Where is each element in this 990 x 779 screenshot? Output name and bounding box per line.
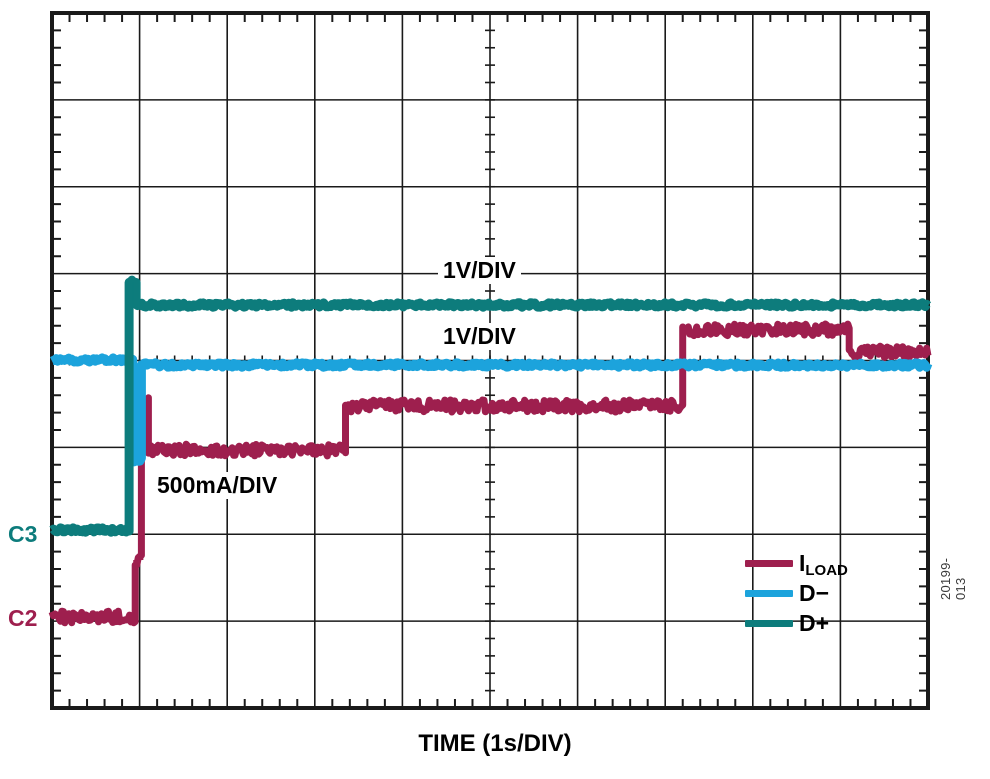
channel-marker-c2: C2 (8, 605, 37, 632)
legend-label-dminus: D− (799, 582, 829, 605)
figure-id-text: 20199-013 (938, 548, 968, 600)
scale-annotation-dminus: 1V/DIV (438, 323, 521, 350)
oscilloscope-figure: 1V/DIV 1V/DIV 500mA/DIV C3 C2 ILOAD D− D… (0, 0, 990, 779)
scale-annotation-dplus: 1V/DIV (438, 257, 521, 284)
legend: ILOAD D− D+ (745, 548, 848, 638)
legend-label-dplus: D+ (799, 612, 829, 635)
legend-label-iload: ILOAD (799, 552, 848, 575)
scope-plot-area (0, 0, 990, 779)
legend-swatch-dminus (745, 590, 793, 597)
x-axis-title: TIME (1s/DIV) (0, 730, 990, 758)
legend-item-iload: ILOAD (745, 548, 848, 578)
channel-marker-c3: C3 (8, 521, 37, 548)
legend-item-dplus: D+ (745, 608, 848, 638)
legend-swatch-dplus (745, 620, 793, 627)
legend-swatch-iload (745, 560, 793, 567)
scale-annotation-iload: 500mA/DIV (152, 472, 282, 499)
legend-item-dminus: D− (745, 578, 848, 608)
